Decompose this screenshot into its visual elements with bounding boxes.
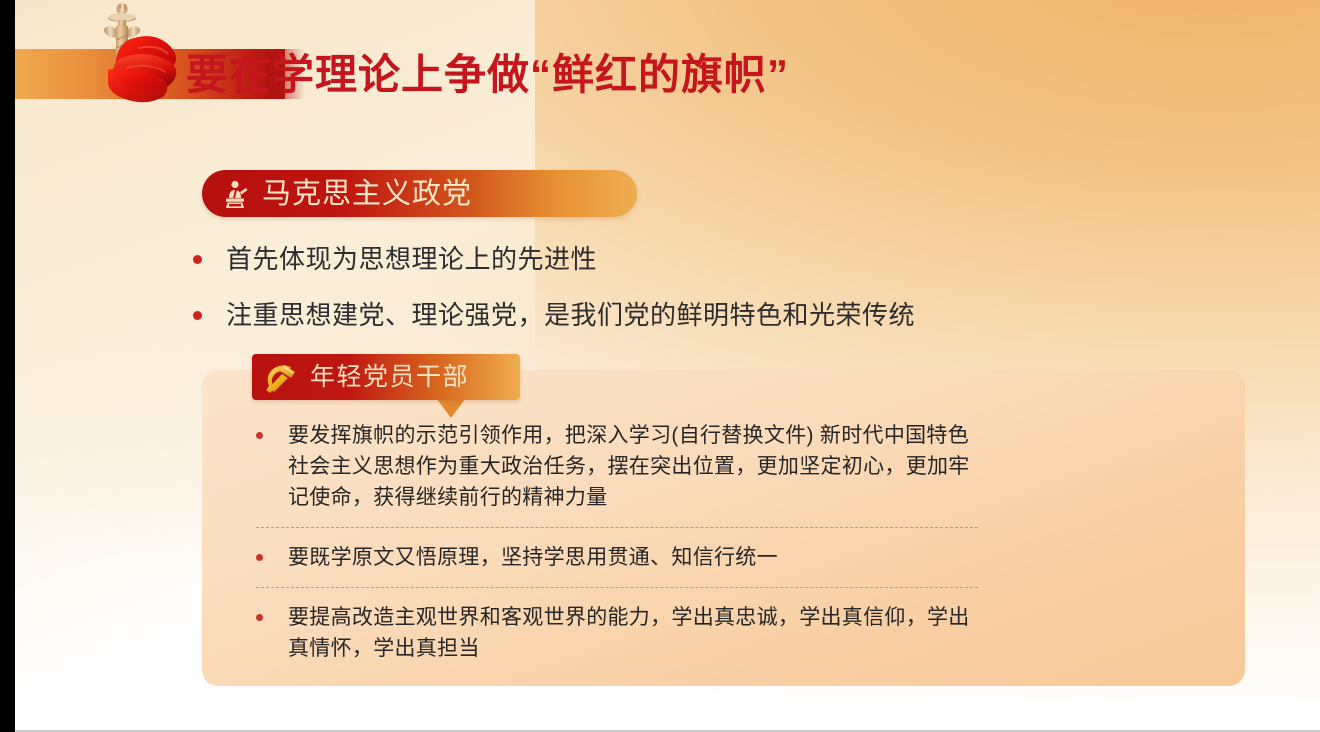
panel-divider bbox=[256, 587, 978, 588]
panel-item-text: 要提高改造主观世界和客观世界的能力，学出真忠诚，学出真信仰，学出真情怀，学出真担… bbox=[288, 602, 988, 664]
bullet-dot-icon bbox=[256, 432, 263, 439]
left-gutter bbox=[0, 0, 15, 732]
badge-marxist-party-label: 马克思主义政党 bbox=[262, 179, 472, 209]
top-bullet-text: 注重思想建党、理论强党，是我们党的鲜明特色和光荣传统 bbox=[226, 298, 915, 332]
bullet-dot-icon bbox=[256, 614, 263, 621]
top-bullet-list: 首先体现为思想理论上的先进性 注重思想建党、理论强党，是我们党的鲜明特色和光荣传… bbox=[193, 242, 1193, 354]
badge-youth-cadre-label: 年轻党员干部 bbox=[310, 364, 469, 390]
badge-youth-cadre[interactable]: 年轻党员干部 bbox=[252, 354, 520, 400]
top-bullet-item: 注重思想建党、理论强党，是我们党的鲜明特色和光荣传统 bbox=[193, 298, 1193, 332]
page-title: 要在学理论上争做“鲜红的旗帜” bbox=[186, 48, 789, 102]
panel-item-list: 要发挥旗帜的示范引领作用，把深入学习(自行替换文件) 新时代中国特色社会主义思想… bbox=[256, 420, 1216, 664]
badge-youth-tail bbox=[437, 399, 465, 418]
top-bullet-item: 首先体现为思想理论上的先进性 bbox=[193, 242, 1193, 276]
panel-item-text: 要既学原文又悟原理，坚持学思用贯通、知信行统一 bbox=[288, 542, 778, 573]
top-bullet-text: 首先体现为思想理论上的先进性 bbox=[226, 242, 597, 276]
bullet-dot-icon bbox=[193, 255, 202, 264]
panel-item: 要既学原文又悟原理，坚持学思用贯通、知信行统一 bbox=[256, 542, 1216, 573]
panel-item-text: 要发挥旗帜的示范引领作用，把深入学习(自行替换文件) 新时代中国特色社会主义思想… bbox=[288, 420, 988, 513]
panel-item: 要发挥旗帜的示范引领作用，把深入学习(自行替换文件) 新时代中国特色社会主义思想… bbox=[256, 420, 1216, 513]
bullet-dot-icon bbox=[193, 311, 202, 320]
slide-canvas: 要在学理论上争做“鲜红的旗帜” 马克思主义政党 首先体现为思想理论上的先进性 注… bbox=[0, 0, 1320, 732]
panel-divider bbox=[256, 527, 978, 528]
party-emblem-icon bbox=[260, 358, 302, 396]
panel-item: 要提高改造主观世界和客观世界的能力，学出真忠诚，学出真信仰，学出真情怀，学出真担… bbox=[256, 602, 1216, 664]
badge-marxist-party[interactable]: 马克思主义政党 bbox=[202, 170, 637, 217]
podium-speaker-icon bbox=[220, 179, 250, 209]
bullet-dot-icon bbox=[256, 554, 263, 561]
